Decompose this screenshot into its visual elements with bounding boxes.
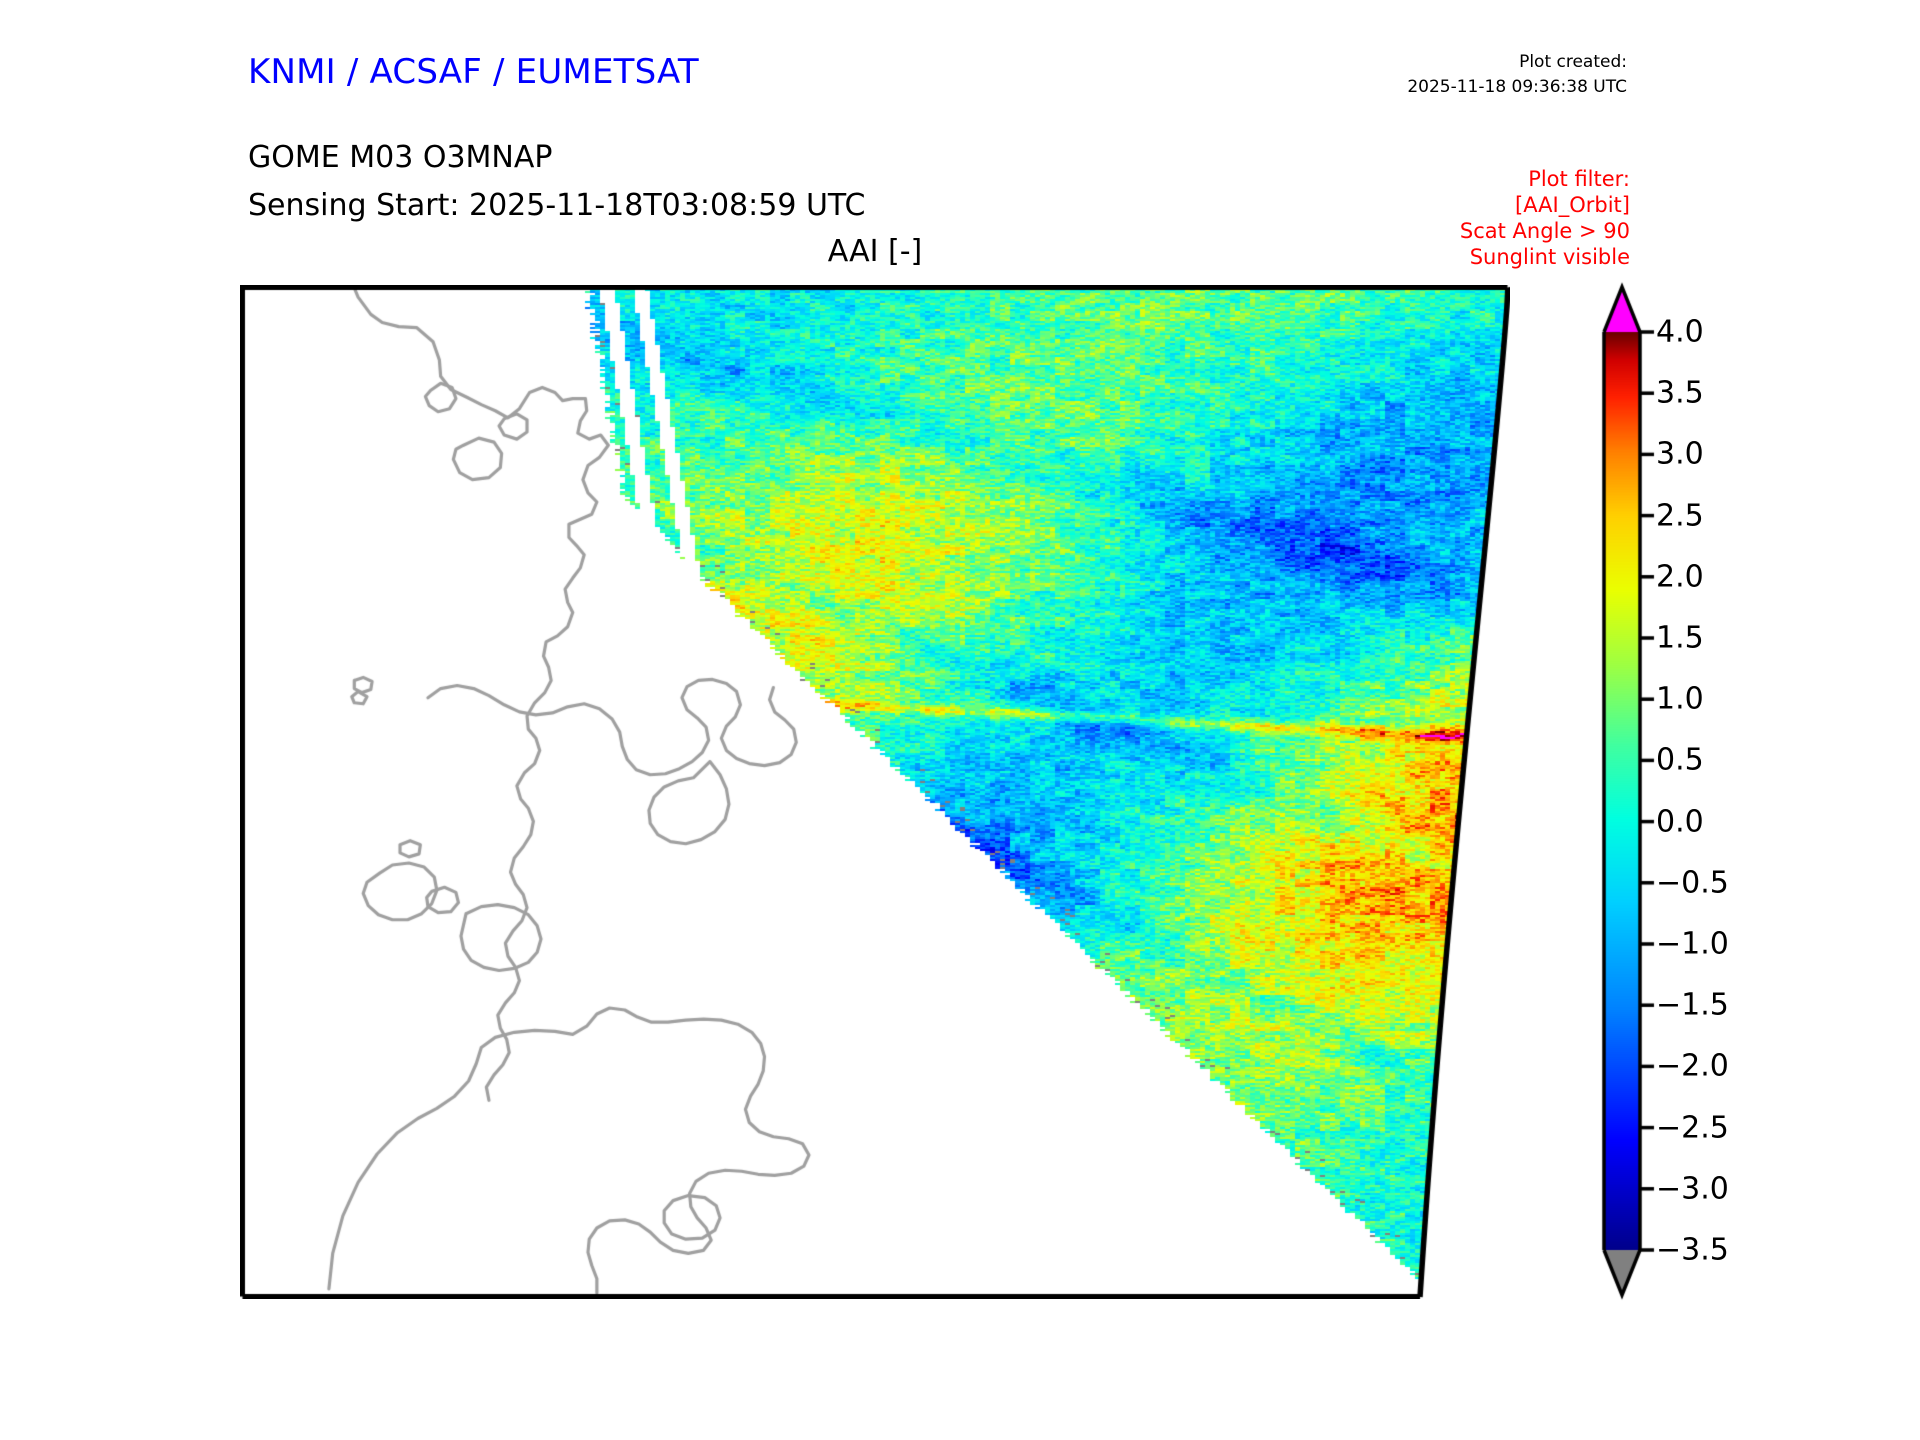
colorbar-tick-12: −2.0	[1656, 1049, 1729, 1084]
colorbar-tick-5: 1.5	[1656, 621, 1704, 656]
colorbar-tick-10: −1.0	[1656, 927, 1729, 962]
organisations-title: KNMI / ACSAF / EUMETSAT	[248, 52, 699, 92]
plot-created-value: 2025-11-18 09:36:38 UTC	[1407, 75, 1627, 100]
colorbar-tick-1: 3.5	[1656, 376, 1704, 411]
colorbar-tick-4: 2.0	[1656, 559, 1704, 594]
colorbar[interactable]: 4.03.53.02.52.01.51.00.50.0−0.5−1.0−1.5−…	[1600, 275, 1900, 1315]
colorbar-tick-7: 0.5	[1656, 743, 1704, 778]
colorbar-tick-0: 4.0	[1656, 315, 1704, 350]
plot-created-label: Plot created:	[1407, 50, 1627, 75]
colorbar-tick-13: −2.5	[1656, 1110, 1729, 1145]
colorbar-tick-8: 0.0	[1656, 804, 1704, 839]
plot-filter-line-2: Scat Angle > 90	[1460, 218, 1630, 244]
plot-created-block: Plot created: 2025-11-18 09:36:38 UTC	[1407, 50, 1627, 100]
colorbar-tick-11: −1.5	[1656, 988, 1729, 1023]
colorbar-tick-6: 1.0	[1656, 682, 1704, 717]
plot-filter-line-3: Sunglint visible	[1460, 244, 1630, 270]
aai-swath-heatmap	[240, 285, 1510, 1299]
colorbar-tick-2: 3.0	[1656, 437, 1704, 472]
colorbar-tick-9: −0.5	[1656, 865, 1729, 900]
plot-filter-title: Plot filter:	[1460, 166, 1630, 192]
plot-filter-block: Plot filter: [AAI_Orbit] Scat Angle > 90…	[1460, 166, 1630, 270]
colorbar-tick-3: 2.5	[1656, 498, 1704, 533]
plot-filter-line-1: [AAI_Orbit]	[1460, 192, 1630, 218]
sensing-start: Sensing Start: 2025-11-18T03:08:59 UTC	[248, 188, 865, 223]
colorbar-gradient	[1600, 275, 1900, 1315]
colorbar-tick-14: −3.0	[1656, 1171, 1729, 1206]
colorbar-tick-15: −3.5	[1656, 1233, 1729, 1268]
product-name: GOME M03 O3MNAP	[248, 140, 552, 175]
page-title: AAI [-]	[240, 234, 1510, 269]
map-plot-area[interactable]	[240, 285, 1510, 1299]
